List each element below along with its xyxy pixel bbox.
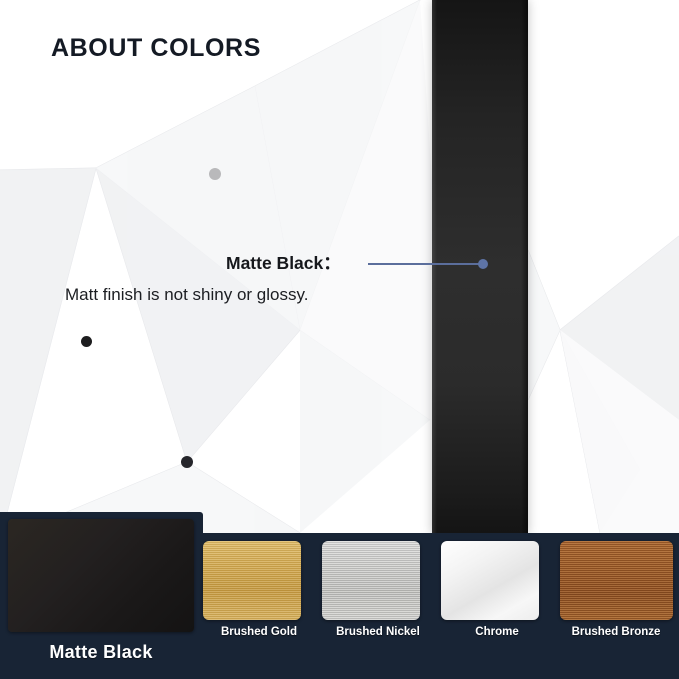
swatch-brushed-bronze[interactable]: Brushed Bronze [560,541,673,638]
swatch-label-chrome: Chrome [441,626,553,638]
swatch-label-brushed-nickel: Brushed Nickel [322,626,434,638]
swatch-tile-matte-black[interactable] [8,519,194,632]
callout-label: Matte Black： [226,250,341,275]
swatch-brushed-gold[interactable]: Brushed Gold [203,541,315,638]
decor-dot-black-lower [181,456,193,468]
callout-endpoint-dot [478,259,488,269]
swatch-tile-brushed-nickel[interactable] [322,541,420,620]
swatch-tile-brushed-bronze[interactable] [560,541,673,620]
callout-leader-line [368,263,481,265]
swatch-label-matte-black: Matte Black [8,642,194,663]
swatch-label-brushed-gold: Brushed Gold [203,626,315,638]
callout-description: Matt finish is not shiny or glossy. [65,285,308,305]
decor-dot-gray [209,168,221,180]
swatch-chrome[interactable]: Chrome [441,541,553,638]
swatch-tile-chrome[interactable] [441,541,539,620]
swatch-brushed-nickel[interactable]: Brushed Nickel [322,541,434,638]
decor-dot-black-upper [81,336,92,347]
swatch-label-brushed-bronze: Brushed Bronze [560,626,672,638]
page-title: ABOUT COLORS [51,34,261,63]
about-colors-infographic: ABOUT COLORS Matte Black： Matt finish is… [0,0,679,679]
swatch-matte-black[interactable]: Matte Black [8,519,194,663]
swatch-tile-brushed-gold[interactable] [203,541,301,620]
